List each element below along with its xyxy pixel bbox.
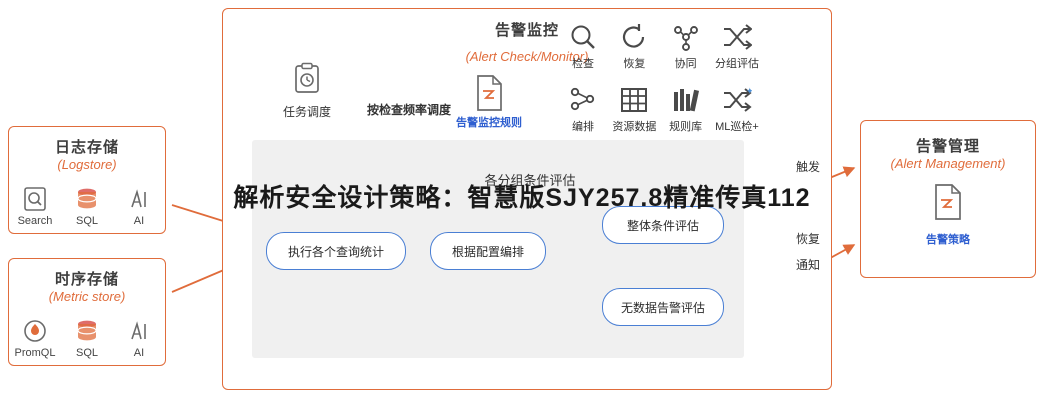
alert-management-title-cn: 告警管理 <box>861 135 1035 156</box>
metricstore-icon-sql: SQL <box>63 317 111 359</box>
ai-icon <box>126 317 152 345</box>
clipboard-schedule-icon <box>290 62 324 96</box>
connector-notify-label: 通知 <box>786 256 830 273</box>
logstore-icon-ai-caption: AI <box>134 215 144 227</box>
metricstore-panel[interactable]: 时序存储 (Metric store) PromQL SQL <box>8 258 166 366</box>
metricstore-icon-ai-caption: AI <box>134 347 144 359</box>
capability-icon-grid: 检查 恢复 协同 <box>560 22 760 134</box>
alert-policy-label: 告警策略 <box>861 231 1035 247</box>
monitor-rule-doc-icon <box>472 74 506 112</box>
capability-check: 检查 <box>560 22 606 71</box>
share-nodes-icon <box>671 22 701 52</box>
database-icon <box>74 317 100 345</box>
capability-icon-row-2: 编排 资源数据 规则库 <box>560 85 760 134</box>
shuffle-icon <box>722 22 752 52</box>
grid-table-icon <box>619 85 649 115</box>
connector-trigger-label: 触发 <box>786 158 830 175</box>
capability-arrange: 编排 <box>560 85 606 134</box>
monitor-rule-label: 告警监控规则 <box>426 114 552 130</box>
diagram-canvas: 日志存储 (Logstore) Search SQL <box>0 0 1044 400</box>
capability-group-eval-caption: 分组评估 <box>715 55 759 71</box>
metricstore-icon-ai: AI <box>115 317 163 359</box>
capability-ml-inspect: ✦ ML巡检+ <box>714 85 760 134</box>
flow-box-no-data-alert[interactable]: 无数据告警评估 <box>602 288 724 326</box>
connector-recover-label: 恢复 <box>786 230 830 247</box>
ml-inspect-icon: ✦ <box>722 85 752 115</box>
logstore-title-en: (Logstore) <box>9 157 165 172</box>
logstore-icon-search-caption: Search <box>18 215 53 227</box>
capability-ml-inspect-caption: ML巡检+ <box>715 118 759 134</box>
metricstore-icon-promql-caption: PromQL <box>15 347 56 359</box>
metricstore-title-en: (Metric store) <box>9 289 165 304</box>
capability-resource-data: 资源数据 <box>611 85 657 134</box>
metricstore-icon-sql-caption: SQL <box>76 347 98 359</box>
metricstore-icon-row: PromQL SQL AI <box>9 317 165 359</box>
task-schedule-label: 任务调度 <box>266 103 348 120</box>
capability-group-eval: 分组评估 <box>714 22 760 71</box>
capability-resource-data-caption: 资源数据 <box>612 118 656 134</box>
capability-arrange-caption: 编排 <box>572 118 594 134</box>
capability-check-caption: 检查 <box>572 55 594 71</box>
flow-box-execute-queries[interactable]: 执行各个查询统计 <box>266 232 406 270</box>
watermark-text: 解析安全设计策略：智慧版SJY257.8精准传真112 <box>0 178 1044 214</box>
capability-collab-caption: 协同 <box>675 55 697 71</box>
capability-rule-library: 规则库 <box>663 85 709 134</box>
refresh-icon <box>619 22 649 52</box>
capability-collab: 协同 <box>663 22 709 71</box>
arrange-icon <box>568 85 598 115</box>
capability-rule-library-caption: 规则库 <box>669 118 702 134</box>
metricstore-icon-promql: PromQL <box>11 317 59 359</box>
magnifier-icon <box>568 22 598 52</box>
svg-text:✦: ✦ <box>746 86 752 96</box>
alert-management-title-en: (Alert Management) <box>861 156 1035 171</box>
logstore-title-cn: 日志存储 <box>9 136 165 157</box>
metricstore-title-cn: 时序存储 <box>9 268 165 289</box>
capability-icon-row-1: 检查 恢复 协同 <box>560 22 760 71</box>
capability-recover-caption: 恢复 <box>623 55 645 71</box>
library-icon <box>671 85 701 115</box>
logstore-icon-sql-caption: SQL <box>76 215 98 227</box>
flask-icon <box>22 317 48 345</box>
flow-box-configure-arrange[interactable]: 根据配置编排 <box>430 232 546 270</box>
capability-recover: 恢复 <box>611 22 657 71</box>
